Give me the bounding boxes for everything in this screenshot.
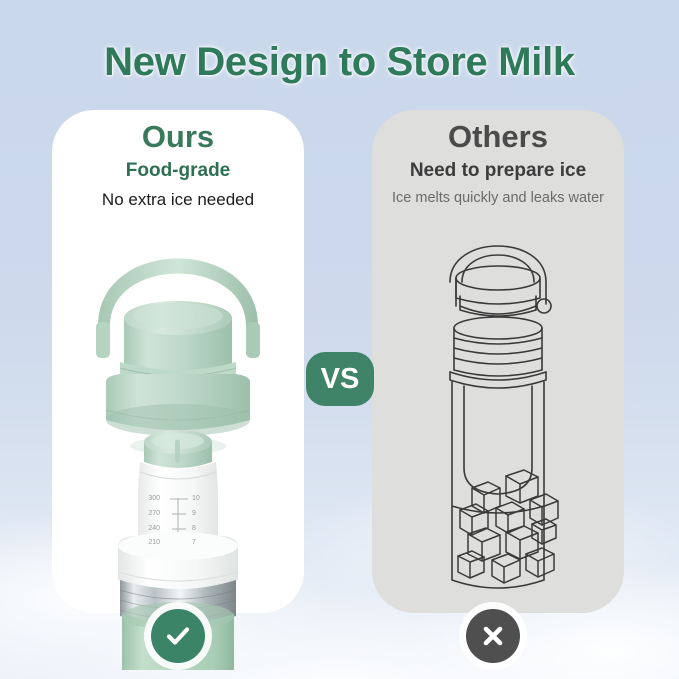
check-icon <box>151 609 205 663</box>
cross-glyph <box>478 621 508 651</box>
ours-subheading: Food-grade <box>52 157 304 186</box>
cross-icon <box>466 609 520 663</box>
page-title: New Design to Store Milk <box>0 40 679 85</box>
ours-note: No extra ice needed <box>52 187 304 213</box>
vs-badge: VS <box>306 352 374 406</box>
others-note: Ice melts quickly and leaks water <box>372 187 624 209</box>
check-glyph <box>163 621 193 651</box>
comparison-infographic: New Design to Store Milk Ours Food-grade… <box>0 0 679 679</box>
card-others-header: Others Need to prepare ice Ice melts qui… <box>372 110 624 210</box>
ours-heading: Ours <box>52 119 304 156</box>
others-subheading: Need to prepare ice <box>372 157 624 186</box>
card-ours: Ours Food-grade No extra ice needed <box>52 110 304 613</box>
card-ours-header: Ours Food-grade No extra ice needed <box>52 110 304 213</box>
others-heading: Others <box>372 119 624 156</box>
card-others: Others Need to prepare ice Ice melts qui… <box>372 110 624 613</box>
